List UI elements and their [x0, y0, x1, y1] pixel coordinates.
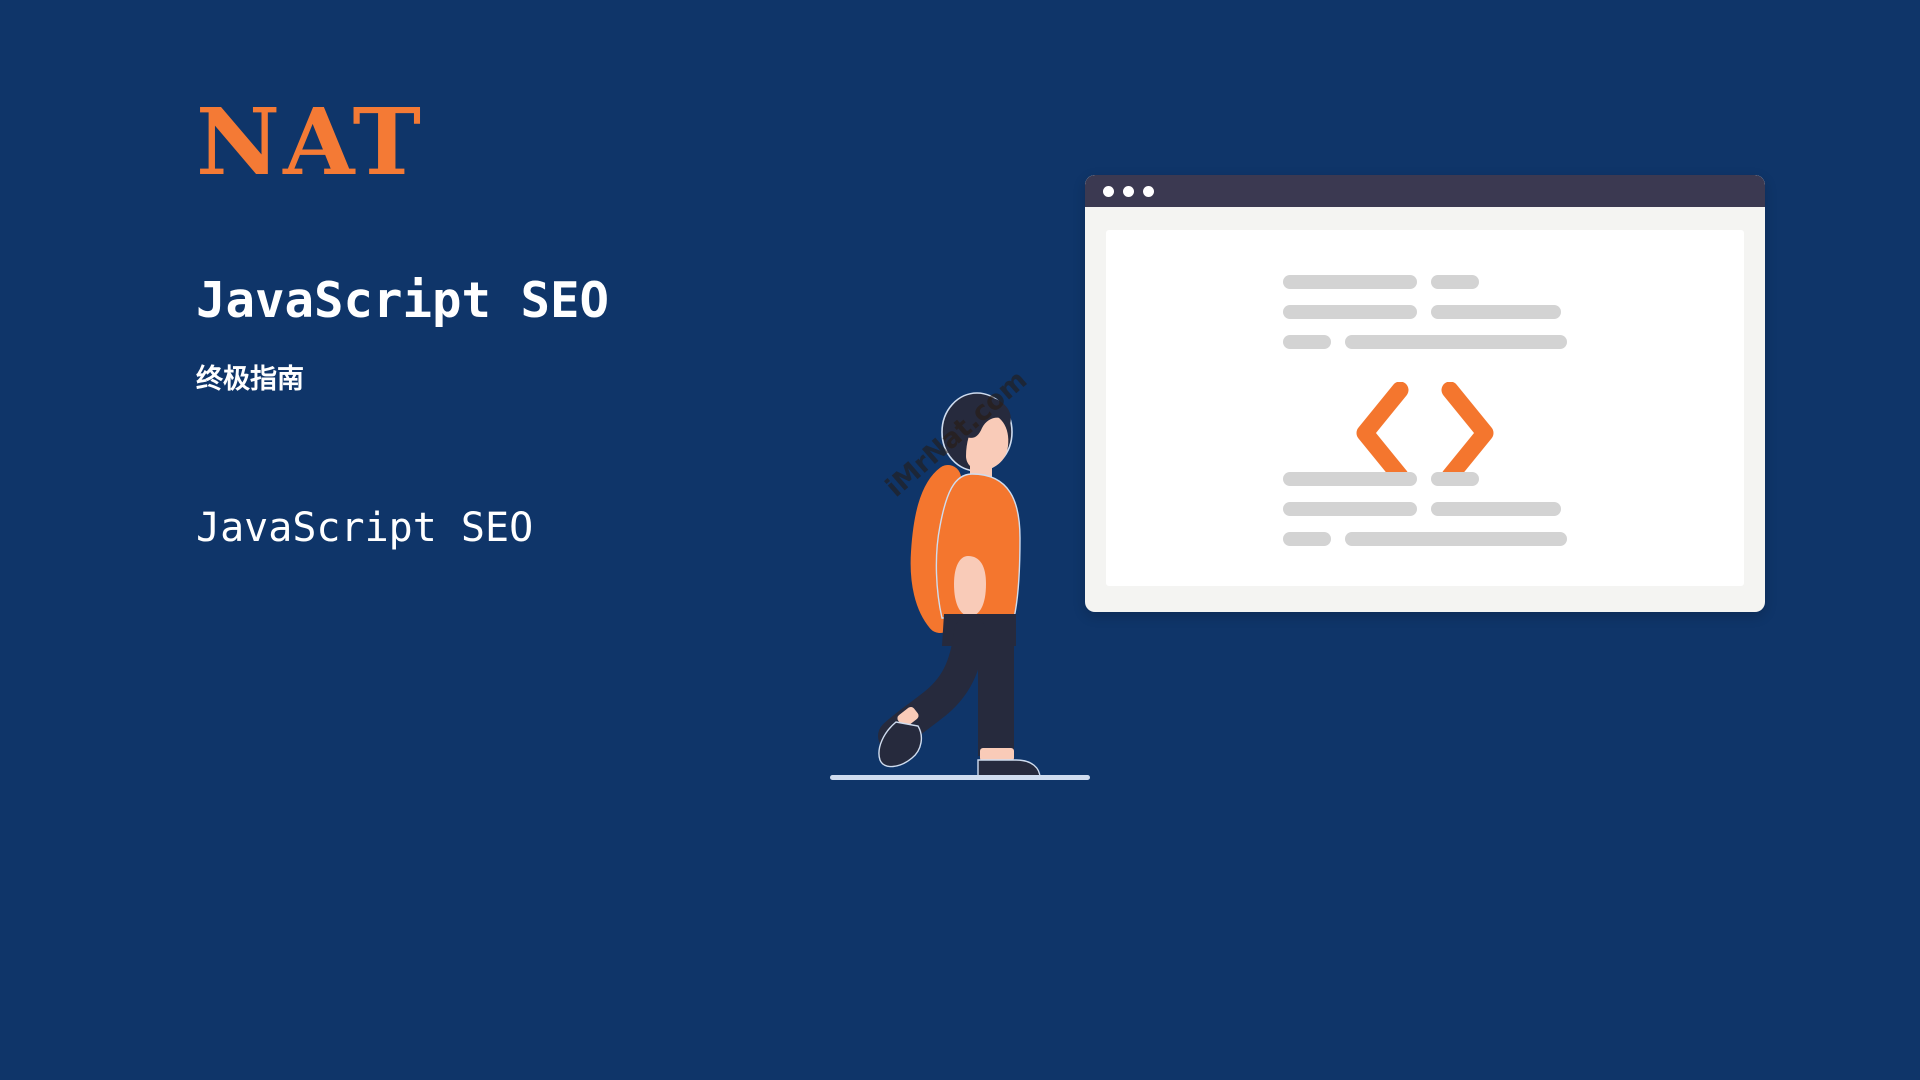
- placeholder-bar: [1431, 472, 1479, 486]
- placeholder-bar: [1283, 532, 1331, 546]
- walking-person-illustration: [820, 370, 1080, 790]
- window-dot-icon[interactable]: [1103, 186, 1114, 197]
- browser-titlebar: [1085, 175, 1765, 207]
- placeholder-row: [1283, 275, 1567, 289]
- placeholder-row: [1283, 532, 1567, 546]
- page-subtitle: 终极指南: [196, 364, 856, 396]
- placeholder-bar: [1283, 502, 1417, 516]
- person-front-ankle: [980, 748, 1014, 761]
- placeholder-bar: [1431, 305, 1561, 319]
- window-dot-icon[interactable]: [1143, 186, 1154, 197]
- left-text-column: NAT JavaScript SEO 终极指南 JavaScript SEO: [196, 96, 856, 550]
- placeholder-bar: [1345, 335, 1567, 349]
- brand-logo: NAT: [196, 96, 856, 188]
- placeholder-text-block-bottom: [1106, 472, 1744, 546]
- chevron-right-icon: [1439, 382, 1497, 484]
- ground-line: [830, 775, 1090, 780]
- browser-viewport: [1106, 230, 1744, 586]
- placeholder-bar: [1431, 502, 1561, 516]
- placeholder-row: [1283, 335, 1567, 349]
- chevron-left-icon: [1353, 382, 1411, 484]
- page-title: JavaScript SEO: [196, 274, 856, 328]
- placeholder-bar: [1431, 275, 1479, 289]
- poster-canvas: NAT JavaScript SEO 终极指南 JavaScript SEO: [0, 0, 1920, 1080]
- placeholder-bar: [1345, 532, 1567, 546]
- window-dot-icon[interactable]: [1123, 186, 1134, 197]
- placeholder-row: [1283, 502, 1567, 516]
- code-brackets-icon: [1106, 382, 1744, 484]
- person-hand: [954, 556, 986, 616]
- keyword-label: JavaScript SEO: [196, 506, 856, 550]
- placeholder-row: [1283, 472, 1567, 486]
- placeholder-row: [1283, 305, 1567, 319]
- browser-window-mockup: [1085, 175, 1765, 612]
- placeholder-bar: [1283, 275, 1417, 289]
- placeholder-bar: [1283, 335, 1331, 349]
- placeholder-text-block-top: [1106, 275, 1744, 349]
- placeholder-bar: [1283, 305, 1417, 319]
- placeholder-bar: [1283, 472, 1417, 486]
